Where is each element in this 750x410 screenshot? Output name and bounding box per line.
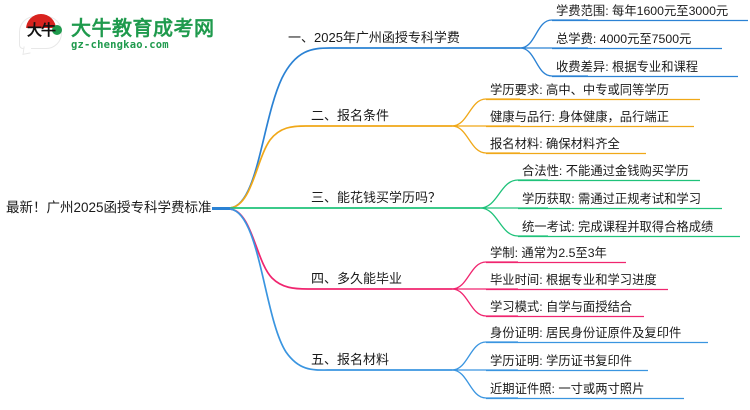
branch-5-leaf-2[interactable]: 学历证明: 学历证书复印件 <box>490 353 632 369</box>
branch-3-leaf-3[interactable]: 统一考试: 完成课程并取得合格成绩 <box>522 219 713 235</box>
branch-label-5[interactable]: 五、报名材料 <box>311 351 389 368</box>
branch-4-leaf-1[interactable]: 学制: 通常为2.5至3年 <box>490 245 607 261</box>
branch-3-leaf-2[interactable]: 学历获取: 需通过正规考试和学习 <box>522 191 701 207</box>
branch-1-spine <box>230 48 520 208</box>
mindmap-root-title[interactable]: 最新！广州2025函授专科学费标准 <box>6 199 212 217</box>
speech-bubble-tail <box>22 45 31 55</box>
branch-label-4[interactable]: 四、多久能毕业 <box>311 270 402 287</box>
branch-2-leaf-1[interactable]: 学历要求: 高中、中专或同等学历 <box>490 82 669 98</box>
branch-3-leaf-1[interactable]: 合法性: 不能通过金钱购买学历 <box>522 163 689 179</box>
mindmap-canvas: 大牛 大牛教育成考网 gz-chengkao.com 最新！广州2025函授专科… <box>0 0 750 410</box>
branch-5-leaf-3[interactable]: 近期证件照: 一寸或两寸照片 <box>490 381 644 397</box>
bull-logo-icon: 大牛 <box>18 13 64 55</box>
branch-1-leaf-3[interactable]: 收费差异: 根据专业和课程 <box>556 59 698 75</box>
branch-label-1[interactable]: 一、2025年广州函授专科学费 <box>288 29 460 46</box>
branch-2-leaf-3[interactable]: 报名材料: 确保材料齐全 <box>490 136 620 152</box>
branch-1-leaf-1[interactable]: 学费范围: 每年1600元至3000元 <box>556 3 728 19</box>
branch-4-leaf-2[interactable]: 毕业时间: 根据专业和学习进度 <box>490 272 657 288</box>
branch-5-leaf-1[interactable]: 身份证明: 居民身份证原件及复印件 <box>490 325 681 341</box>
branch-4-leaf-3[interactable]: 学习模式: 自学与面授结合 <box>490 299 632 315</box>
logo-site-url: gz-chengkao.com <box>71 39 215 52</box>
branch-label-2[interactable]: 二、报名条件 <box>311 107 389 124</box>
logo-mark-text: 大牛 <box>22 23 60 38</box>
branch-1-leaf-2[interactable]: 总学费: 4000元至7500元 <box>556 31 691 47</box>
site-logo[interactable]: 大牛 大牛教育成考网 gz-chengkao.com <box>18 10 248 58</box>
branch-2-leaf-2[interactable]: 健康与品行: 身体健康，品行端正 <box>490 109 669 125</box>
branch-label-3[interactable]: 三、能花钱买学历吗？ <box>311 189 441 206</box>
logo-site-name: 大牛教育成考网 <box>71 17 215 39</box>
logo-text-block: 大牛教育成考网 gz-chengkao.com <box>71 17 215 52</box>
